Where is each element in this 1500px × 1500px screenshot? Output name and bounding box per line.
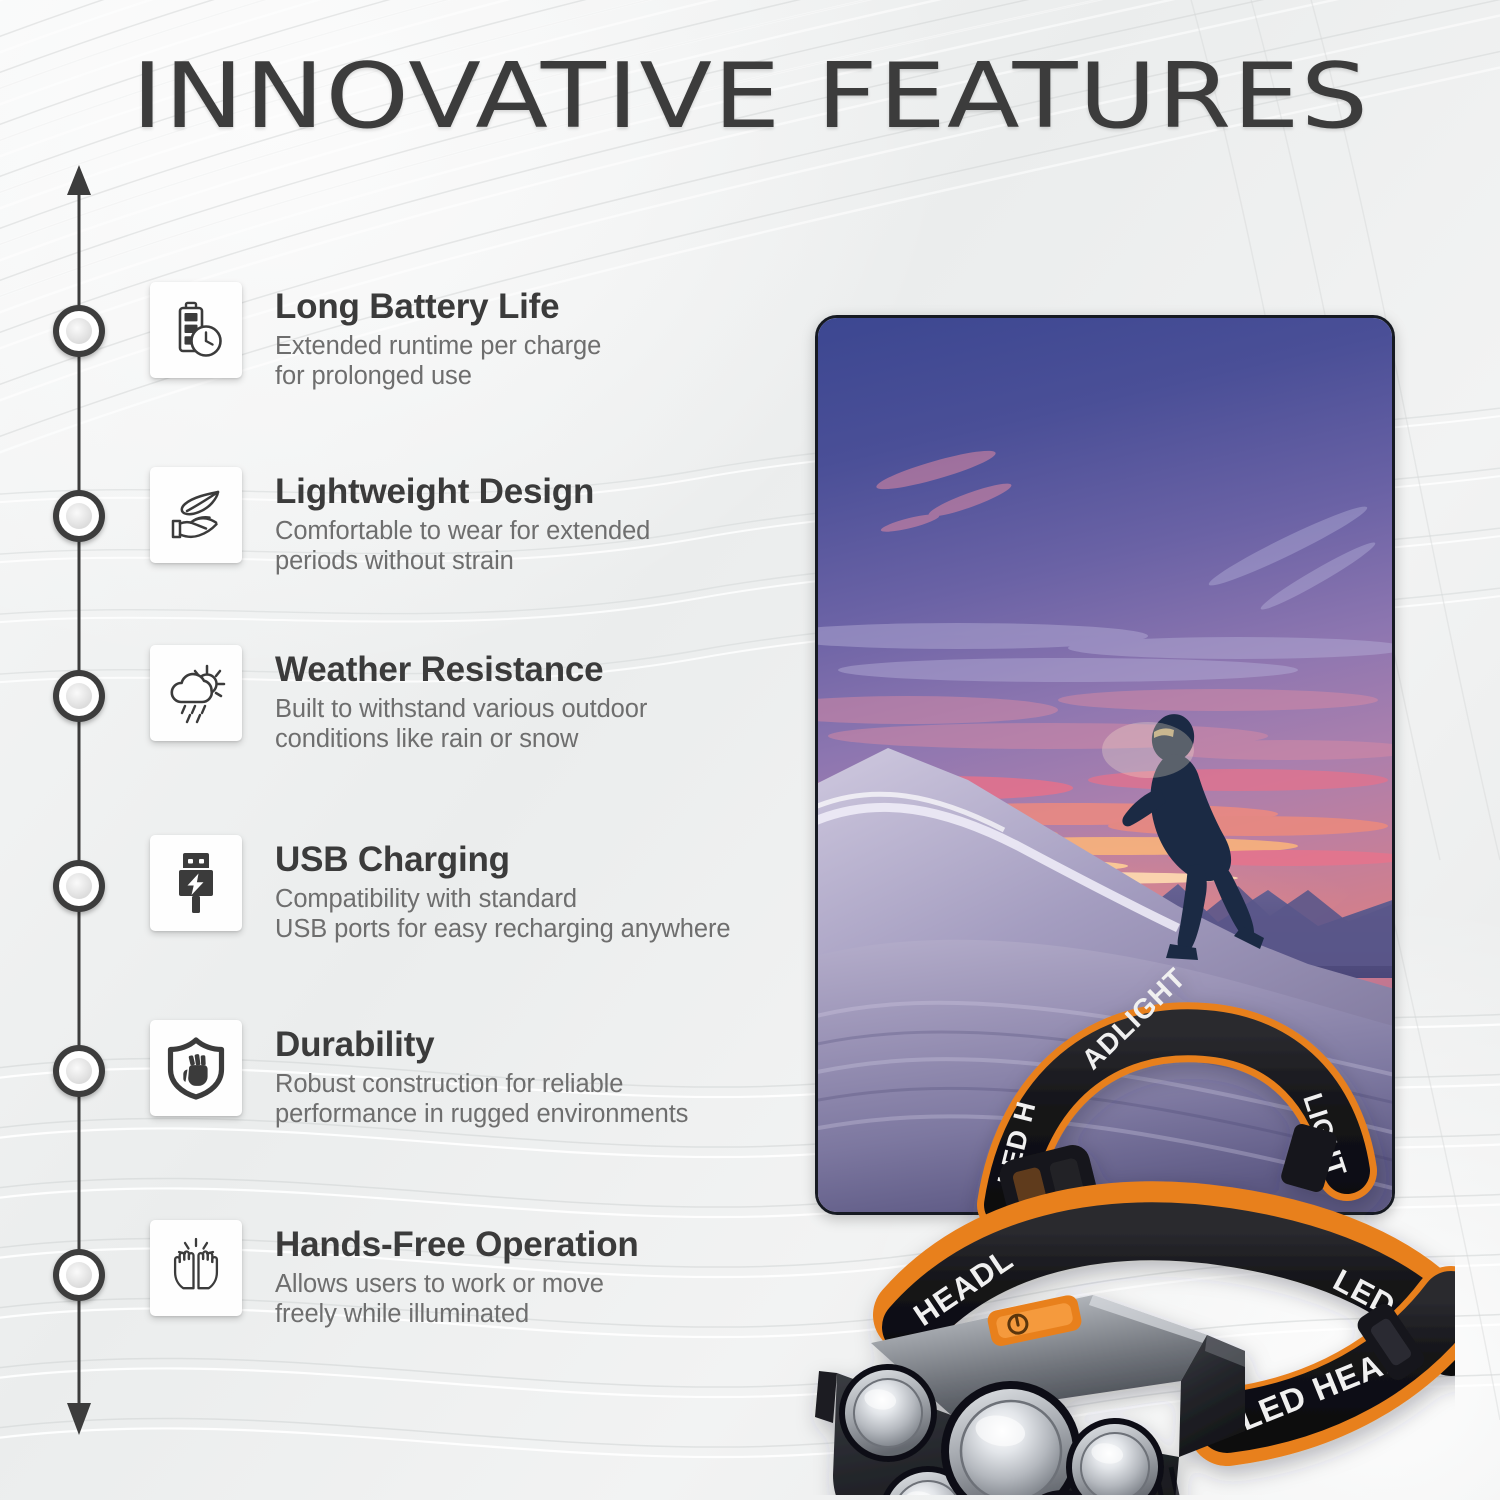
feature-item-hands-free-operation[interactable]: Hands-Free Operation Allows users to wor… [150,1220,790,1329]
feature-description: Robust construction for reliable perform… [275,1070,688,1129]
page-title: INNOVATIVE FEATURES [0,52,1500,142]
timeline-marker[interactable] [53,490,105,542]
timeline-marker[interactable] [53,1249,105,1301]
page-title-text: INNOVATIVE FEATURES [131,52,1369,142]
sun-cloud-rain-icon [165,662,227,724]
timeline-arrow-down-icon [67,1403,91,1435]
feature-icon-tile [150,1220,242,1316]
led-headlamp-product: ADLIGHT LED H LIGHT HEADL LED [775,875,1455,1495]
timeline-axis [46,165,146,1435]
feature-description: Extended runtime per charge for prolonge… [275,332,601,391]
feature-title: Weather Resistance [275,651,647,688]
feature-text-block: Lightweight Design Comfortable to wear f… [275,467,650,576]
feature-icon-tile [150,645,242,741]
usb-cable-bolt-icon [173,850,219,916]
timeline-arrow-up-icon [67,165,91,195]
product-image-panel: ADLIGHT LED H LIGHT HEADL LED [815,315,1395,1215]
feature-text-block: Long Battery Life Extended runtime per c… [275,282,601,391]
feature-description: Comfortable to wear for extended periods… [275,517,650,576]
feature-description: Compatibility with standard USB ports fo… [275,885,730,944]
clapping-hands-icon [164,1237,228,1299]
feature-item-durability[interactable]: Durability Robust construction for relia… [150,1020,790,1129]
feature-title: Durability [275,1026,688,1063]
led-lens [1058,1410,1172,1495]
feature-description: Allows users to work or move freely whil… [275,1270,639,1329]
feature-item-long-battery-life[interactable]: Long Battery Life Extended runtime per c… [150,282,790,391]
timeline-marker[interactable] [53,860,105,912]
feature-title: Lightweight Design [275,473,650,510]
feature-title: Hands-Free Operation [275,1226,639,1263]
headlamp-back-band: LED HEAD [1227,1300,1451,1437]
feature-text-block: Hands-Free Operation Allows users to wor… [275,1220,639,1329]
feature-text-block: Weather Resistance Built to withstand va… [275,645,647,754]
battery-clock-icon [166,299,226,361]
feature-icon-tile [150,467,242,563]
feature-icon-tile [150,1020,242,1116]
feature-description: Built to withstand various outdoor condi… [275,695,647,754]
timeline-marker[interactable] [53,1045,105,1097]
feature-item-lightweight-design[interactable]: Lightweight Design Comfortable to wear f… [150,467,790,576]
feature-text-block: USB Charging Compatibility with standard… [275,835,730,944]
timeline-marker[interactable] [53,670,105,722]
feature-text-block: Durability Robust construction for relia… [275,1020,688,1129]
feature-icon-tile [150,282,242,378]
feature-item-weather-resistance[interactable]: Weather Resistance Built to withstand va… [150,645,790,754]
feature-title: Long Battery Life [275,288,601,325]
shield-fist-icon [165,1036,227,1100]
feature-icon-tile [150,835,242,931]
timeline-marker[interactable] [53,305,105,357]
hand-feather-icon [165,487,227,543]
feature-item-usb-charging[interactable]: USB Charging Compatibility with standard… [150,835,790,944]
feature-title: USB Charging [275,841,730,878]
